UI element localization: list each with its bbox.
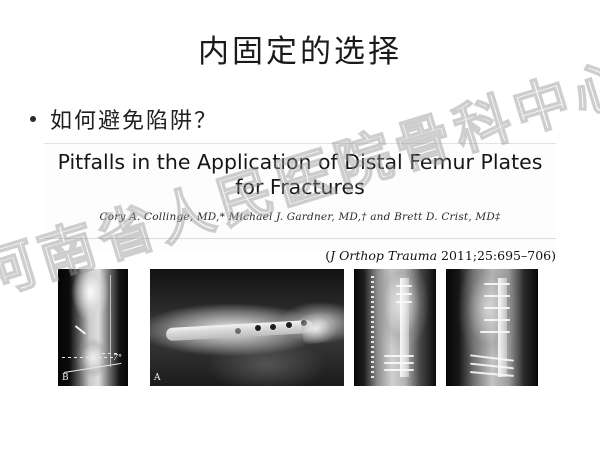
xray-panel-ap-plate-staples bbox=[354, 269, 436, 386]
xray-panel-ap-lateral-plate-screws bbox=[446, 269, 538, 386]
plate-hole-icon bbox=[255, 325, 261, 331]
xray-film-4 bbox=[446, 269, 538, 386]
plate-rung bbox=[396, 301, 412, 303]
paper-bottom-divider bbox=[44, 238, 556, 239]
plate-rung bbox=[396, 285, 412, 287]
paper-title: Pitfalls in the Application of Distal Fe… bbox=[44, 150, 556, 200]
xray-panel-lateral-plate-long: A bbox=[150, 269, 344, 386]
paper-title-line-1: Pitfalls in the Application of Distal Fe… bbox=[44, 150, 556, 175]
plate-rung bbox=[484, 283, 510, 285]
plate-rung bbox=[484, 319, 510, 321]
distal-screw bbox=[384, 355, 414, 357]
page-title: 内固定的选择 bbox=[0, 26, 600, 71]
plate-hole-icon bbox=[235, 328, 241, 334]
paper-authors: Cory A. Collinge, MD,* Michael J. Gardne… bbox=[44, 211, 556, 223]
bullet-item: 如何避免陷阱？ bbox=[30, 103, 450, 135]
femur-plate-implant bbox=[498, 278, 507, 376]
citation-detail: 2011;25:695–706) bbox=[437, 248, 556, 263]
plate-rung bbox=[480, 331, 510, 333]
citation-journal-name: J Orthop Trauma bbox=[330, 248, 437, 263]
paper-title-line-2: for Fractures bbox=[44, 175, 556, 200]
plate-rung bbox=[396, 293, 412, 295]
joint-line-dashed bbox=[62, 357, 116, 358]
plate-rung bbox=[484, 295, 510, 297]
slide-canvas: 内固定的选择 如何避免陷阱？ Pitfalls in the Applicati… bbox=[0, 0, 600, 450]
surgical-staples-row bbox=[371, 276, 374, 379]
plate-hole-icon bbox=[286, 322, 292, 328]
paper-header-block: Pitfalls in the Application of Distal Fe… bbox=[44, 143, 556, 251]
panel-corner-label-b: B bbox=[62, 373, 69, 383]
plate-rung bbox=[484, 307, 510, 309]
journal-citation: (J Orthop Trauma 2011;25:695–706) bbox=[300, 248, 556, 263]
xray-figure-strip: 7° B A bbox=[58, 269, 538, 386]
femoral-condyle-shadow bbox=[300, 311, 338, 345]
panel-corner-label-a: A bbox=[154, 373, 161, 383]
distal-screw bbox=[384, 362, 414, 364]
bullet-item-label: 如何避免陷阱？ bbox=[50, 103, 218, 135]
paper-top-divider bbox=[44, 143, 556, 144]
bullet-marker-icon bbox=[30, 116, 36, 122]
angle-measurement-label: 7° bbox=[113, 353, 122, 362]
xray-panel-ap-distal-femur-malalignment: 7° B bbox=[58, 269, 128, 386]
xray-film-1 bbox=[58, 269, 128, 386]
distal-screw bbox=[384, 369, 414, 371]
